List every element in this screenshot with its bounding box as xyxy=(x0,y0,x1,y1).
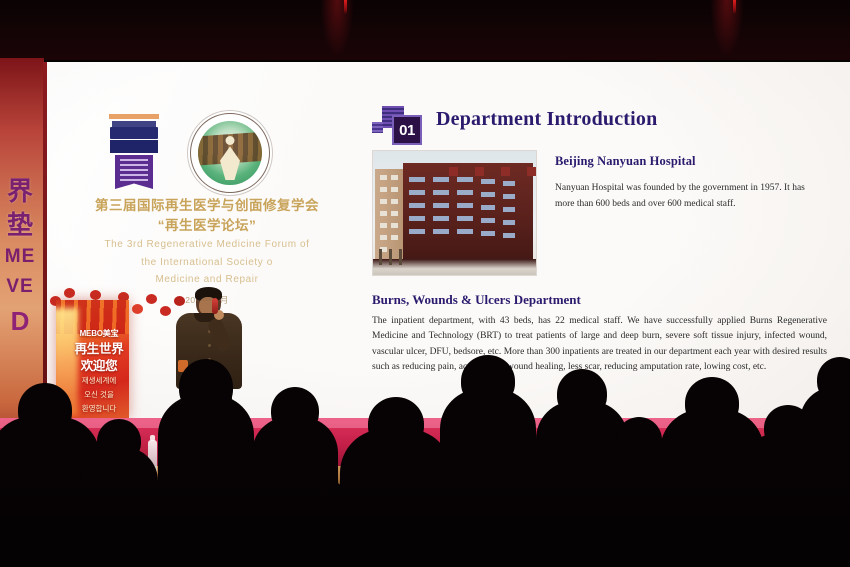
wall-sign-cn-2: 垫 xyxy=(7,212,33,238)
hospital-building-photo xyxy=(372,150,537,276)
hospital-rooftop-sign xyxy=(449,167,537,176)
un-academic-impact-logo xyxy=(109,114,159,192)
hospital-name: Beijing Nanyuan Hospital xyxy=(555,154,823,169)
foreground-shadow xyxy=(0,479,850,567)
poster-title-english: The 3rd Regenerative Medicine Forum of t… xyxy=(67,236,347,289)
poster-title-chinese: 第三届国际再生医学与创面修复学会 “再生医学论坛” xyxy=(57,196,357,235)
section-title: Department Introduction xyxy=(436,108,657,131)
hospital-description: Nanyuan Hospital was founded by the gove… xyxy=(555,181,823,212)
ceiling-spot-light xyxy=(733,0,736,14)
section-number-decoration: 01 xyxy=(372,106,424,142)
poster-logos xyxy=(109,110,309,192)
wall-sign-en-2: VE xyxy=(6,276,33,298)
poster-title-en-line2: the International Society o xyxy=(67,254,347,272)
wall-sign-en-1: ME xyxy=(5,246,36,268)
wall-sign-cn-1: 界 xyxy=(7,178,33,204)
regenerative-medicine-society-emblem xyxy=(187,110,273,196)
conference-hall-scene: 界 垫 ME VE D xyxy=(0,0,850,567)
hospital-intro-row: Beijing Nanyuan Hospital Nanyuan Hospita… xyxy=(372,150,827,286)
poster-title-cn-line2: “再生医学论坛” xyxy=(57,216,357,236)
slide-header: 01 Department Introduction xyxy=(372,108,827,142)
hospital-text-block: Beijing Nanyuan Hospital Nanyuan Hospita… xyxy=(555,154,823,212)
department-title: Burns, Wounds & Ulcers Department xyxy=(372,292,827,308)
section-number: 01 xyxy=(399,122,415,139)
hall-ceiling xyxy=(0,0,850,60)
poster-title-en-line1: The 3rd Regenerative Medicine Forum of xyxy=(67,236,347,254)
microphone xyxy=(212,298,218,314)
poster-title-cn-line1: 第三届国际再生医学与创面修复学会 xyxy=(57,196,357,216)
ceiling-spot-light xyxy=(344,0,347,14)
